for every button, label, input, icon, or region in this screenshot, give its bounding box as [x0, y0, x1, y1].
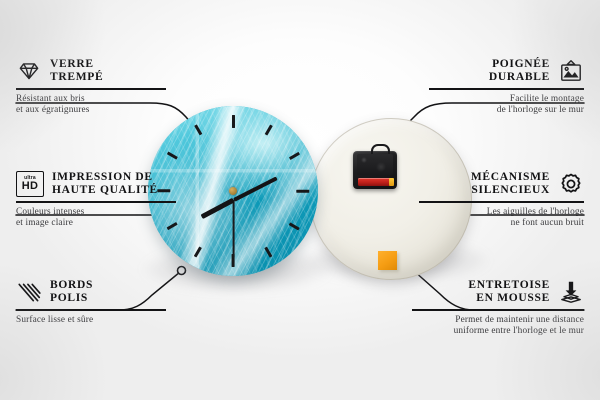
callout-title: BORDS POLIS — [50, 279, 93, 305]
callout-polished-edges: BORDS POLIS Surface lisse et sûre — [16, 279, 166, 326]
callout-title: ENTRETOISE EN MOUSSE — [468, 279, 550, 305]
clock-center-cap — [229, 187, 237, 195]
callout-desc-line1: Permet de maintenir une distance — [412, 315, 584, 327]
picture-hanger-icon — [558, 58, 584, 84]
callout-tempered-glass: VERRE TREMPÉ Résistant aux bris et aux é… — [16, 58, 166, 117]
callout-divider — [429, 88, 584, 90]
battery-terminal-icon — [389, 178, 394, 186]
callout-divider — [16, 88, 166, 90]
callout-header: ultra HD IMPRESSION DE HAUTE QUALITÉ — [16, 171, 176, 197]
callout-desc-line1: Couleurs intenses — [16, 207, 176, 219]
callout-title: MÉCANISME SILENCIEUX — [471, 171, 550, 197]
callout-desc-line1: Surface lisse et sûre — [16, 315, 166, 327]
callout-title: VERRE TREMPÉ — [50, 58, 103, 84]
foam-spacer-icon — [378, 251, 397, 270]
clock-second-hand — [233, 200, 235, 258]
callout-title: POIGNÉE DURABLE — [489, 58, 550, 84]
callout-header: ENTRETOISE EN MOUSSE — [412, 279, 584, 305]
callout-desc-line2: de l'horloge sur le mur — [429, 105, 584, 117]
callout-print-quality: ultra HD IMPRESSION DE HAUTE QUALITÉ Cou… — [16, 171, 176, 230]
battery-icon — [358, 178, 391, 186]
callout-desc-line2: et aux égratignures — [16, 105, 166, 117]
callout-header: BORDS POLIS — [16, 279, 166, 305]
callout-mechanism: MÉCANISME SILENCIEUX Les aiguilles de l'… — [419, 171, 584, 230]
badge-main-label: HD — [22, 181, 39, 192]
down-arrow-stack-icon — [558, 279, 584, 305]
callout-handle: POIGNÉE DURABLE Facilite le montage de l… — [429, 58, 584, 117]
callout-title: IMPRESSION DE HAUTE QUALITÉ — [52, 171, 158, 197]
diamond-icon — [16, 58, 42, 84]
callout-header: VERRE TREMPÉ — [16, 58, 166, 84]
callout-divider — [419, 201, 584, 203]
callout-spacer: ENTRETOISE EN MOUSSE Permet de maintenir… — [412, 279, 584, 338]
callout-desc-line2: et image claire — [16, 218, 176, 230]
diagonal-lines-icon — [16, 279, 42, 305]
infographic-stage: VERRE TREMPÉ Résistant aux bris et aux é… — [0, 0, 600, 400]
callout-desc-line2: uniforme entre l'horloge et le mur — [412, 326, 584, 338]
callout-header: MÉCANISME SILENCIEUX — [419, 171, 584, 197]
mechanism-housing-detail — [357, 154, 393, 175]
callout-divider — [412, 309, 584, 311]
callout-divider — [16, 309, 166, 311]
callout-desc-line1: Résistant aux bris — [16, 94, 166, 106]
ultra-hd-badge-icon: ultra HD — [16, 171, 44, 197]
hour-tick — [232, 115, 235, 128]
callout-desc-line2: ne font aucun bruit — [419, 218, 584, 230]
callout-desc-line1: Les aiguilles de l'horloge — [419, 207, 584, 219]
callout-desc-line1: Facilite le montage — [429, 94, 584, 106]
gear-icon — [558, 171, 584, 197]
quartz-mechanism-icon — [353, 151, 397, 189]
callout-divider — [16, 201, 176, 203]
callout-header: POIGNÉE DURABLE — [429, 58, 584, 84]
hour-tick — [296, 190, 309, 193]
